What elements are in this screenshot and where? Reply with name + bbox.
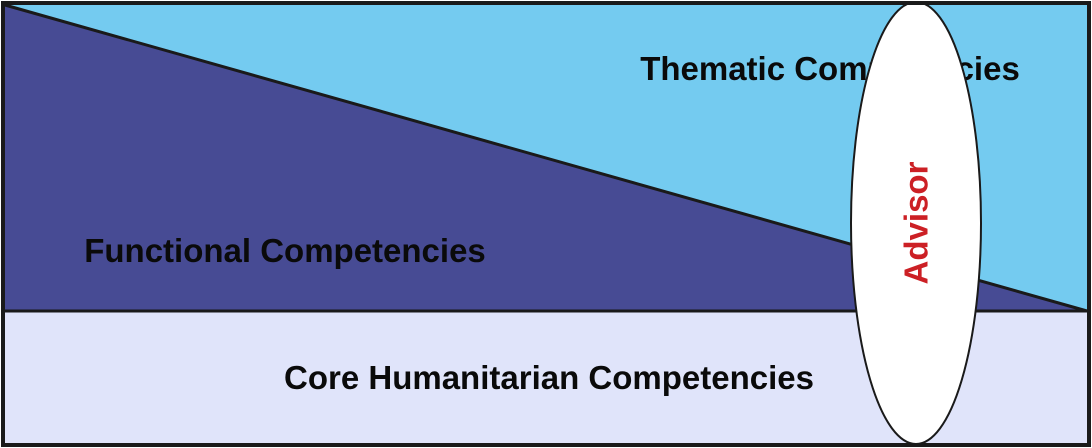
functional-band-label: Functional Competencies xyxy=(84,232,486,269)
advisor-callout-label: Advisor xyxy=(898,161,935,284)
competency-diagram-svg: Thematic Competencies Functional Compete… xyxy=(0,0,1092,448)
core-humanitarian-band-label: Core Humanitarian Competencies xyxy=(284,359,814,396)
competency-diagram: Thematic Competencies Functional Compete… xyxy=(0,0,1092,448)
